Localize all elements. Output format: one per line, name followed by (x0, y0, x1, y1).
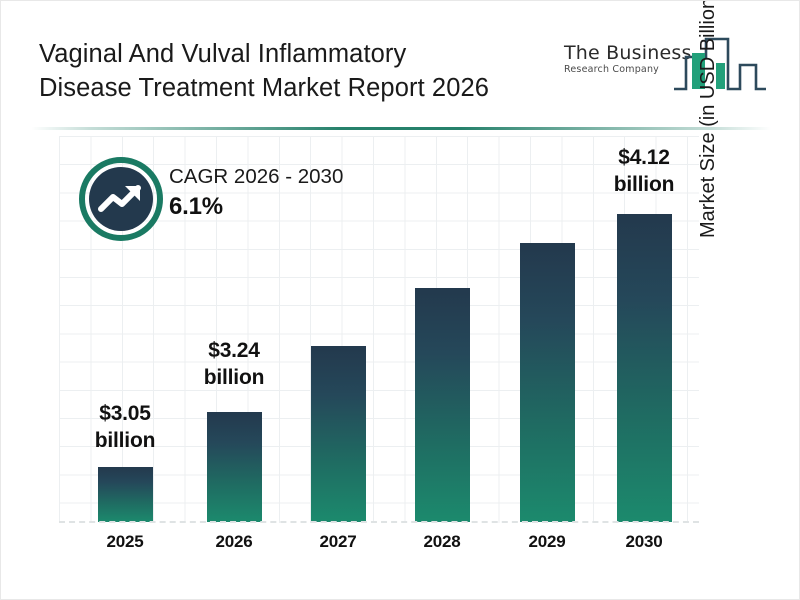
bar-label-2026-unit: billion (179, 364, 289, 391)
y-axis-title: Market Size (in USD Billion) (697, 0, 727, 238)
header-divider (31, 127, 771, 130)
title-line-1: Vaginal And Vulval Inflammatory (39, 37, 559, 71)
bar-label-2030-value: $4.12 (589, 144, 699, 171)
bar-2028 (415, 288, 470, 522)
x-tick-2026: 2026 (179, 532, 289, 552)
company-logo: The Business Research Company (564, 35, 769, 97)
chart-canvas: Vaginal And Vulval Inflammatory Disease … (0, 0, 800, 600)
cagr-value: 6.1% (169, 191, 343, 223)
bar-2026 (207, 412, 262, 522)
x-tick-2028: 2028 (387, 532, 497, 552)
logo-company-subtitle: Research Company (564, 64, 684, 76)
bar-2030 (617, 214, 672, 522)
bar-label-2025: $3.05 billion (70, 400, 180, 454)
bar-label-2030-unit: billion (589, 171, 699, 198)
x-tick-2025: 2025 (70, 532, 180, 552)
cagr-text-block: CAGR 2026 - 2030 6.1% (169, 163, 343, 223)
bar-label-2026: $3.24 billion (179, 337, 289, 391)
bar-2029 (520, 243, 575, 522)
bar-2025 (98, 467, 153, 522)
x-tick-2030: 2030 (589, 532, 699, 552)
logo-company-name: The Business (564, 43, 684, 64)
x-tick-2027: 2027 (283, 532, 393, 552)
bar-label-2025-value: $3.05 (70, 400, 180, 427)
title-line-2: Disease Treatment Market Report 2026 (39, 71, 559, 105)
trending-up-arrow-icon (79, 157, 163, 241)
logo-wordmark: The Business Research Company (564, 43, 684, 76)
cagr-period-label: CAGR 2026 - 2030 (169, 163, 343, 191)
page-title: Vaginal And Vulval Inflammatory Disease … (39, 37, 559, 105)
cagr-badge: CAGR 2026 - 2030 6.1% (79, 157, 409, 247)
x-axis-labels: 2025 2026 2027 2028 2029 2030 (59, 532, 699, 562)
x-tick-2029: 2029 (492, 532, 602, 552)
axis-baseline (59, 521, 699, 523)
bar-2027 (311, 346, 366, 522)
bar-label-2026-value: $3.24 (179, 337, 289, 364)
bar-label-2030: $4.12 billion (589, 144, 699, 198)
bar-label-2025-unit: billion (70, 427, 180, 454)
